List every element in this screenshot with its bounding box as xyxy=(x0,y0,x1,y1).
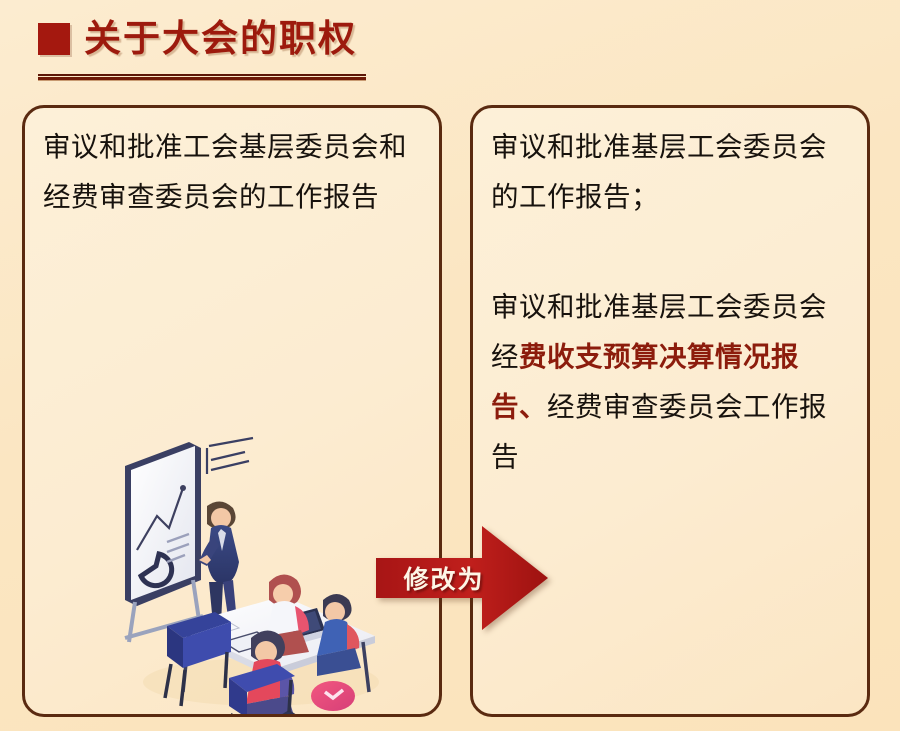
poster-canvas: 关于大会的职权 审议和批准工会基层委员会和经费审查委员会的工作报告 xyxy=(0,0,900,731)
speech-lines-icon xyxy=(207,438,253,474)
page-title: 关于大会的职权 xyxy=(84,20,357,57)
meeting-presentation-illustration xyxy=(111,430,391,717)
revised-paragraph-1: 审议和批准基层工会委员会的工作报告； xyxy=(491,122,853,222)
seated-person-man-right-icon xyxy=(317,594,361,676)
red-square-bullet-icon xyxy=(38,23,70,55)
title-underline-divider xyxy=(38,74,366,81)
whiteboard-icon xyxy=(125,442,203,642)
page-header: 关于大会的职权 xyxy=(38,20,357,57)
original-text-body: 审议和批准工会基层委员会和经费审查委员会的工作报告 xyxy=(43,122,425,222)
arrow-shape-icon xyxy=(374,524,550,632)
modified-to-arrow: 修改为 xyxy=(374,524,550,632)
revised-paragraph-2: 审议和批准基层工会委员会经费收支预算决算情况报告、经费审查委员会工作报告 xyxy=(491,282,853,482)
clock-object-icon xyxy=(311,681,355,711)
